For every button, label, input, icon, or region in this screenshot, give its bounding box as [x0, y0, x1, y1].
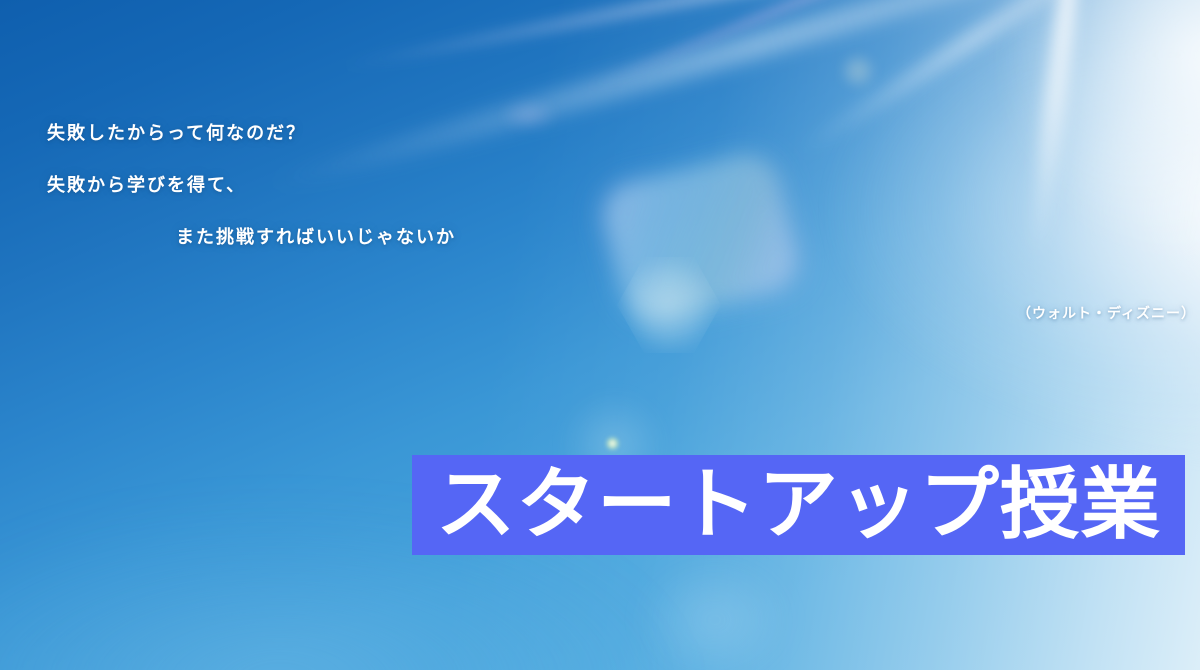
quote-line-3: また挑戦すればいいじゃないか: [0, 212, 1200, 264]
quote-attribution: （ウォルト・ディズニー）: [0, 296, 1196, 332]
title-text: スタートアップ授業: [436, 463, 1161, 547]
quote-block: 失敗したからって何なのだ？ 失敗から学びを得て、 また挑戦すればいいじゃないか: [0, 108, 1200, 264]
title-banner: スタートアップ授業: [412, 455, 1185, 555]
quote-line-2: 失敗から学びを得て、: [0, 160, 1200, 212]
quote-line-1: 失敗したからって何なのだ？: [0, 108, 1200, 160]
slide-canvas: 失敗したからって何なのだ？ 失敗から学びを得て、 また挑戦すればいいじゃないか …: [0, 0, 1200, 670]
